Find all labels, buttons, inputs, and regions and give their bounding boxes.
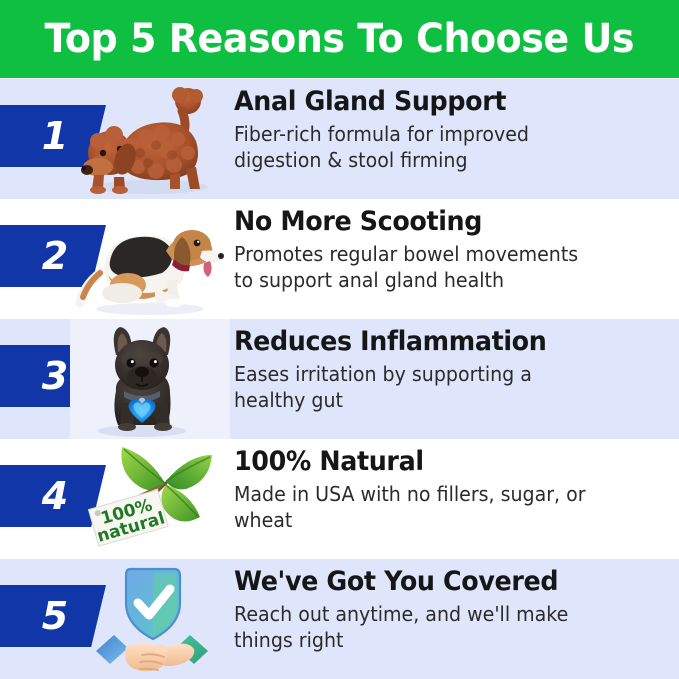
feature-title: No More Scooting (234, 207, 648, 237)
french-bulldog-image (70, 319, 230, 439)
feature-text-4: 100% Natural Made in USA with no fillers… (234, 447, 674, 533)
feature-title: We've Got You Covered (234, 567, 648, 597)
feature-title: 100% Natural (234, 447, 648, 477)
shield-checkmark-handshake-icon (70, 559, 230, 679)
feature-text-1: Anal Gland Support Fiber-rich formula fo… (234, 87, 674, 173)
desc-line-2: to support anal gland health (234, 268, 652, 294)
desc-line-1: Eases irritation by supporting a (234, 362, 652, 388)
badge-number-label: 2 (42, 234, 68, 278)
desc-line-2: things right (234, 628, 652, 654)
desc-line-1: Made in USA with no fillers, sugar, or (234, 482, 652, 508)
feature-title: Reduces Inflammation (234, 327, 648, 357)
feature-description: Promotes regular bowel movements to supp… (234, 242, 652, 293)
badge-number-label: 4 (42, 474, 68, 518)
page-title: Top 5 Reasons To Choose Us (45, 16, 634, 62)
feature-row-4: 4 (0, 439, 679, 559)
feature-text-5: We've Got You Covered Reach out anytime,… (234, 567, 674, 653)
beagle-dog-image (70, 199, 230, 319)
leaves-with-natural-tag-image: 100% natural (70, 439, 230, 559)
desc-line-1: Fiber-rich formula for improved (234, 122, 652, 148)
desc-line-1: Promotes regular bowel movements (234, 242, 652, 268)
desc-line-2: wheat (234, 508, 652, 534)
badge-number-label: 3 (42, 354, 68, 398)
desc-line-1: Reach out anytime, and we'll make (234, 602, 652, 628)
feature-description: Eases irritation by supporting a healthy… (234, 362, 652, 413)
feature-description: Reach out anytime, and we'll make things… (234, 602, 652, 653)
poodle-dog-image (70, 79, 230, 199)
feature-title: Anal Gland Support (234, 87, 648, 117)
feature-row-1: 1 (0, 79, 679, 199)
desc-line-2: healthy gut (234, 388, 652, 414)
feature-row-2: 2 (0, 199, 679, 319)
feature-row-3: 3 (0, 319, 679, 439)
feature-text-3: Reduces Inflammation Eases irritation by… (234, 327, 674, 413)
top-5-reasons-infographic: Top 5 Reasons To Choose Us 1 (0, 0, 679, 679)
feature-description: Fiber-rich formula for improved digestio… (234, 122, 652, 173)
badge-number-label: 1 (42, 114, 68, 158)
badge-number-label: 5 (42, 594, 68, 638)
feature-description: Made in USA with no fillers, sugar, or w… (234, 482, 652, 533)
feature-text-2: No More Scooting Promotes regular bowel … (234, 207, 674, 293)
desc-line-2: digestion & stool firming (234, 148, 652, 174)
feature-row-5: 5 (0, 559, 679, 679)
header-banner: Top 5 Reasons To Choose Us (0, 0, 679, 78)
